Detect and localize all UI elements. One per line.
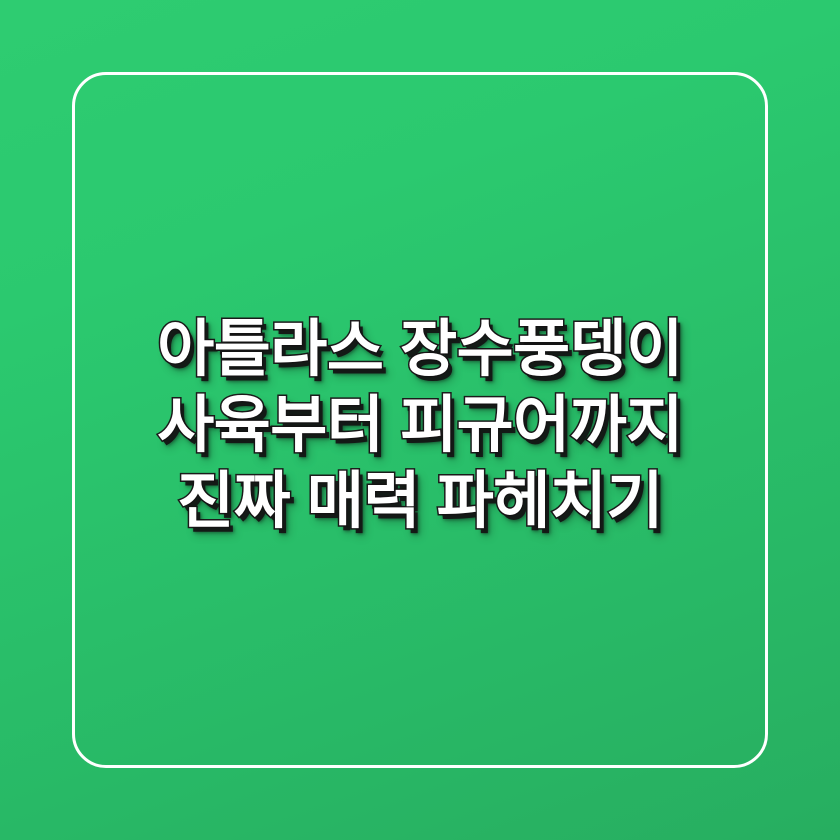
title-card: 아틀라스 장수풍뎅이 사육부터 피규어까지 진짜 매력 파헤치기 <box>0 0 840 840</box>
headline-line-3: 진짜 매력 파헤치기 <box>80 464 760 540</box>
headline-block: 아틀라스 장수풍뎅이 사육부터 피규어까지 진짜 매력 파헤치기 <box>0 312 840 540</box>
headline-line-1: 아틀라스 장수풍뎅이 <box>80 312 760 388</box>
headline-line-2: 사육부터 피규어까지 <box>80 388 760 464</box>
